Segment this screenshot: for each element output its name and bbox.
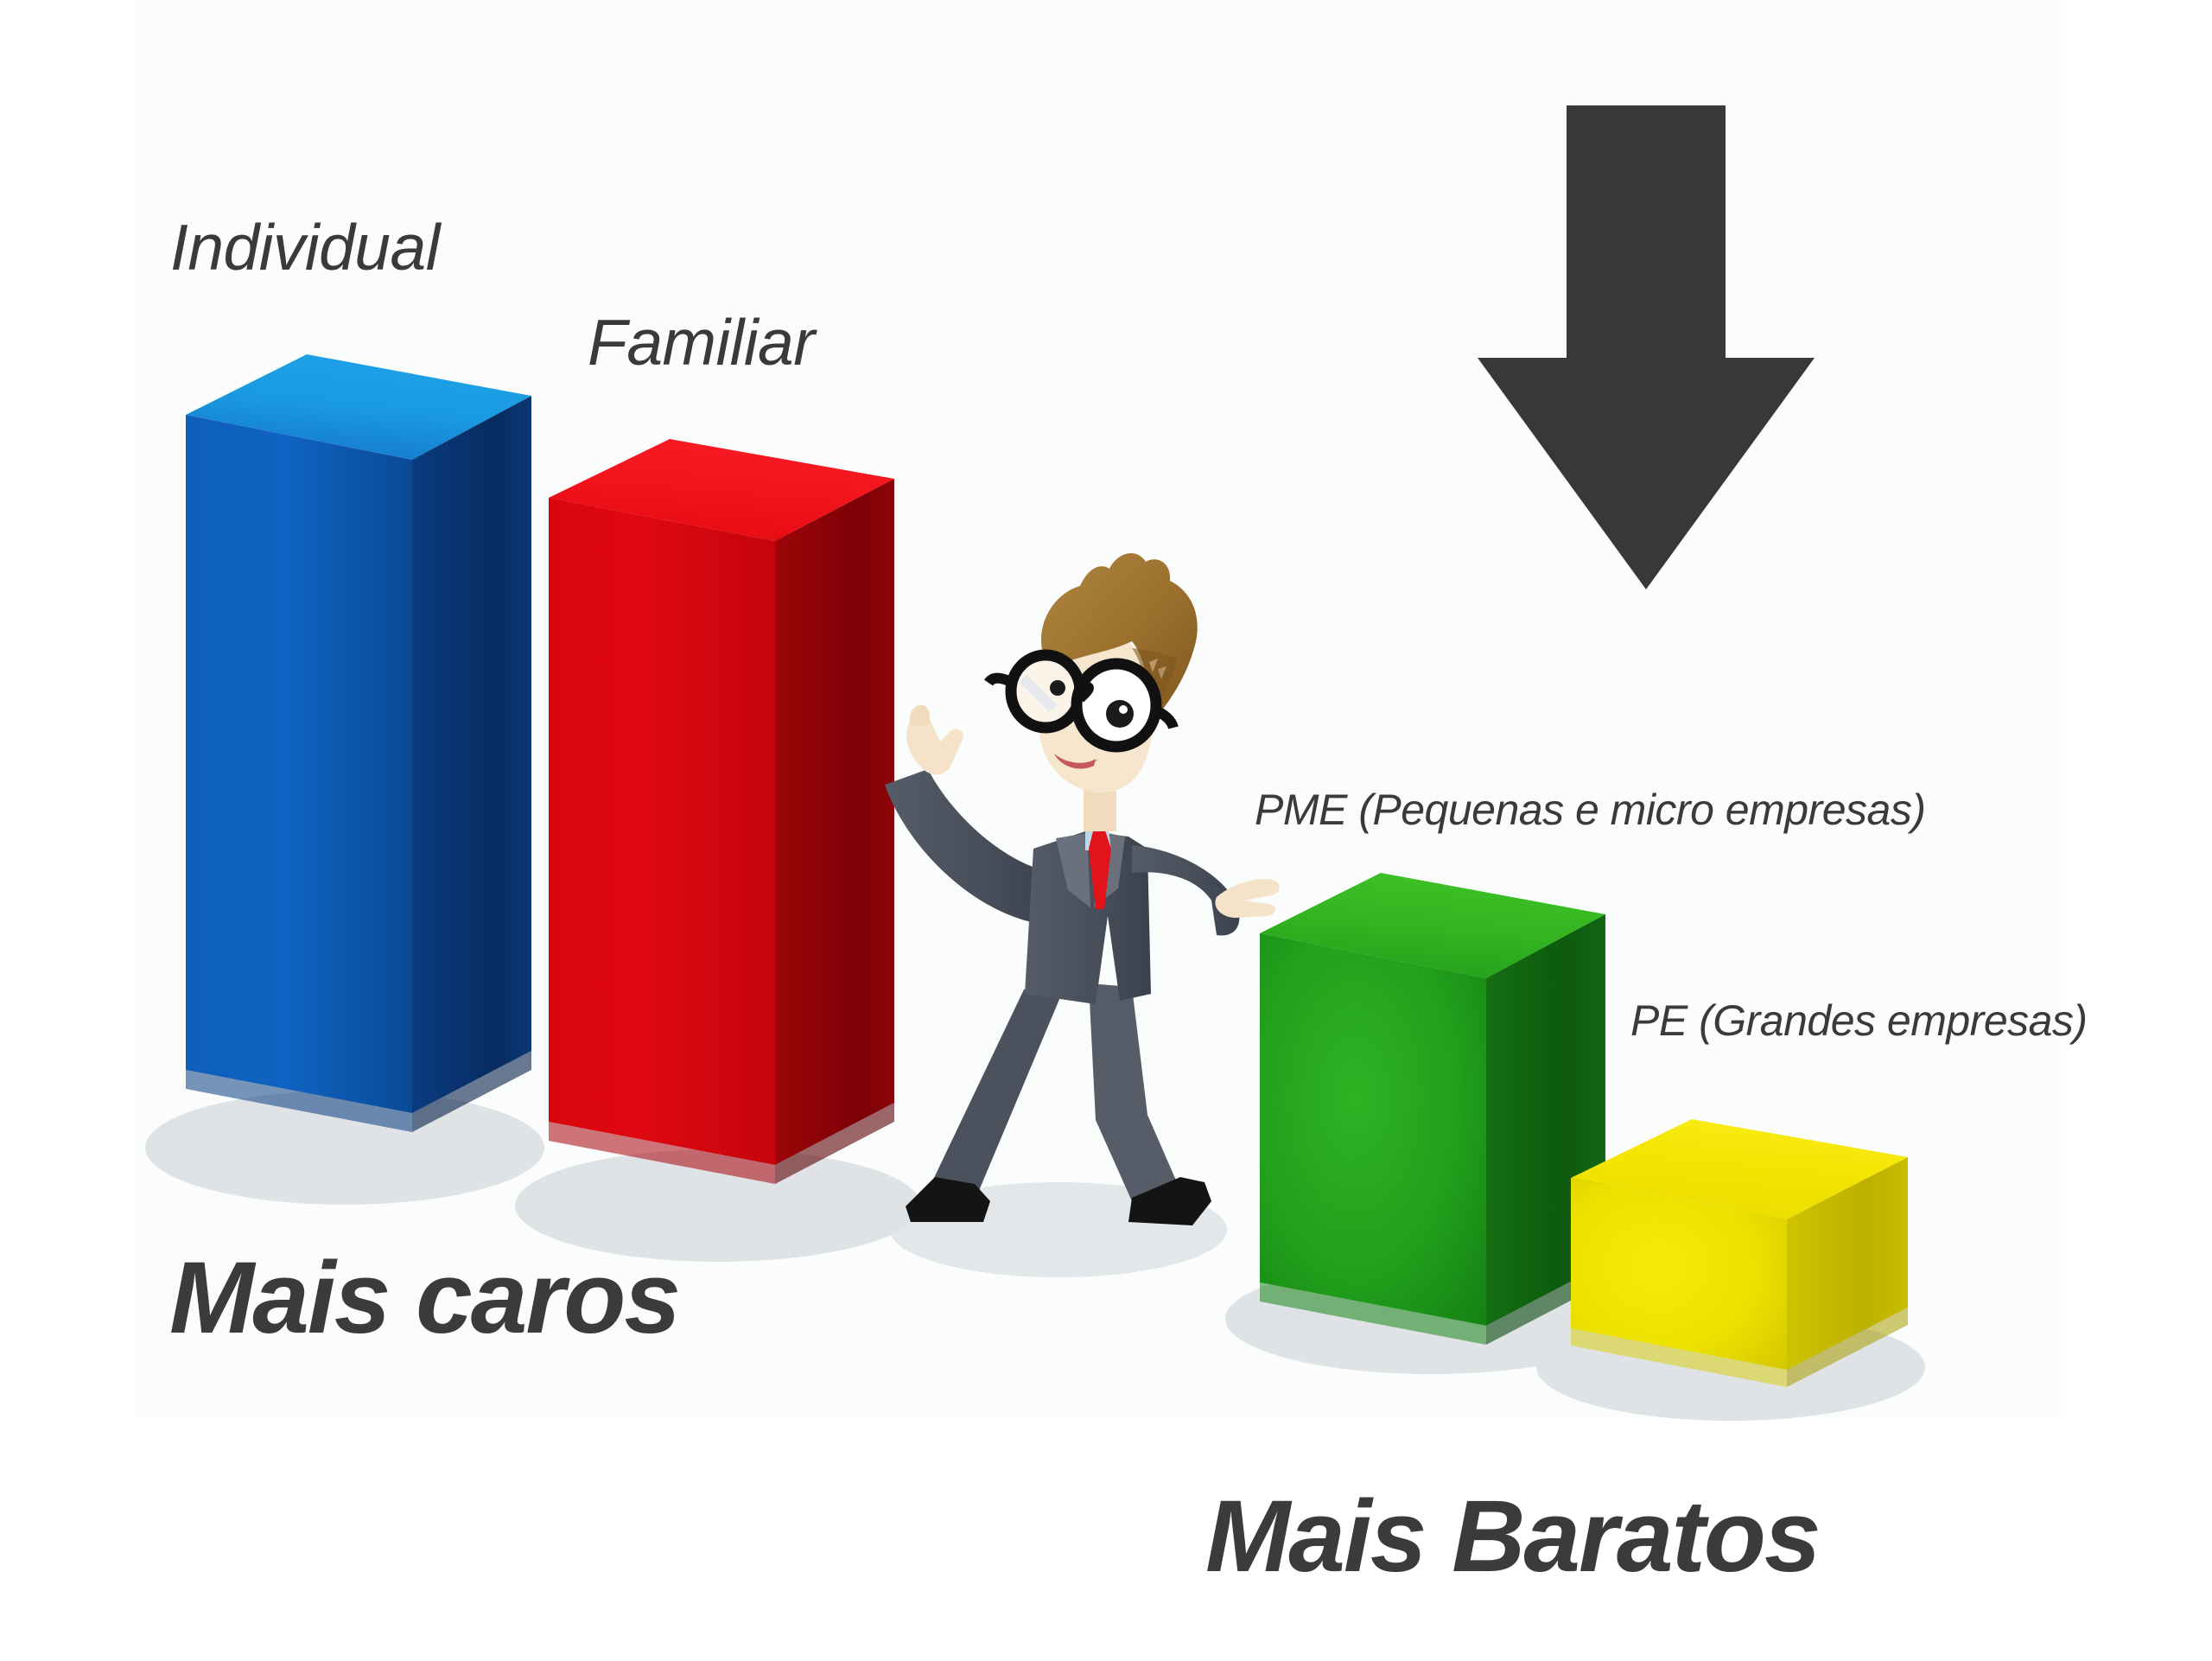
leg-back	[933, 981, 1067, 1193]
bar-individual[interactable]	[186, 354, 531, 1167]
callout-mais-baratos: Mais Baratos	[1205, 1478, 1820, 1595]
eye-right	[1106, 700, 1134, 728]
bar-label-pe: PE (Grandes empresas)	[1630, 996, 2088, 1046]
callout-mais-caros: Mais caros	[169, 1239, 679, 1357]
eye-left	[1050, 680, 1065, 696]
bar-pe[interactable]	[1571, 1119, 1908, 1413]
bar-side-face	[412, 396, 531, 1113]
bar-familiar[interactable]	[549, 439, 894, 1217]
open-hand	[1215, 879, 1280, 918]
bar-label-pme: PME (Pequenas e micro empresas)	[1255, 785, 1925, 835]
bar-front-face	[549, 498, 775, 1165]
bar-pme[interactable]	[1260, 873, 1605, 1374]
arrow-down-icon	[1478, 105, 1815, 676]
bar-front-face	[186, 415, 412, 1113]
arm-left-raised	[885, 769, 1054, 925]
businessman-pointing-icon	[873, 510, 1287, 1262]
leg-front	[1089, 983, 1177, 1201]
bar-label-individual: Individual	[170, 210, 440, 284]
bar-label-familiar: Familiar	[588, 305, 815, 379]
chart-canvas: Individual Familiar PME (Pequenas e micr…	[0, 0, 2212, 1661]
bar-front-face	[1260, 933, 1486, 1326]
